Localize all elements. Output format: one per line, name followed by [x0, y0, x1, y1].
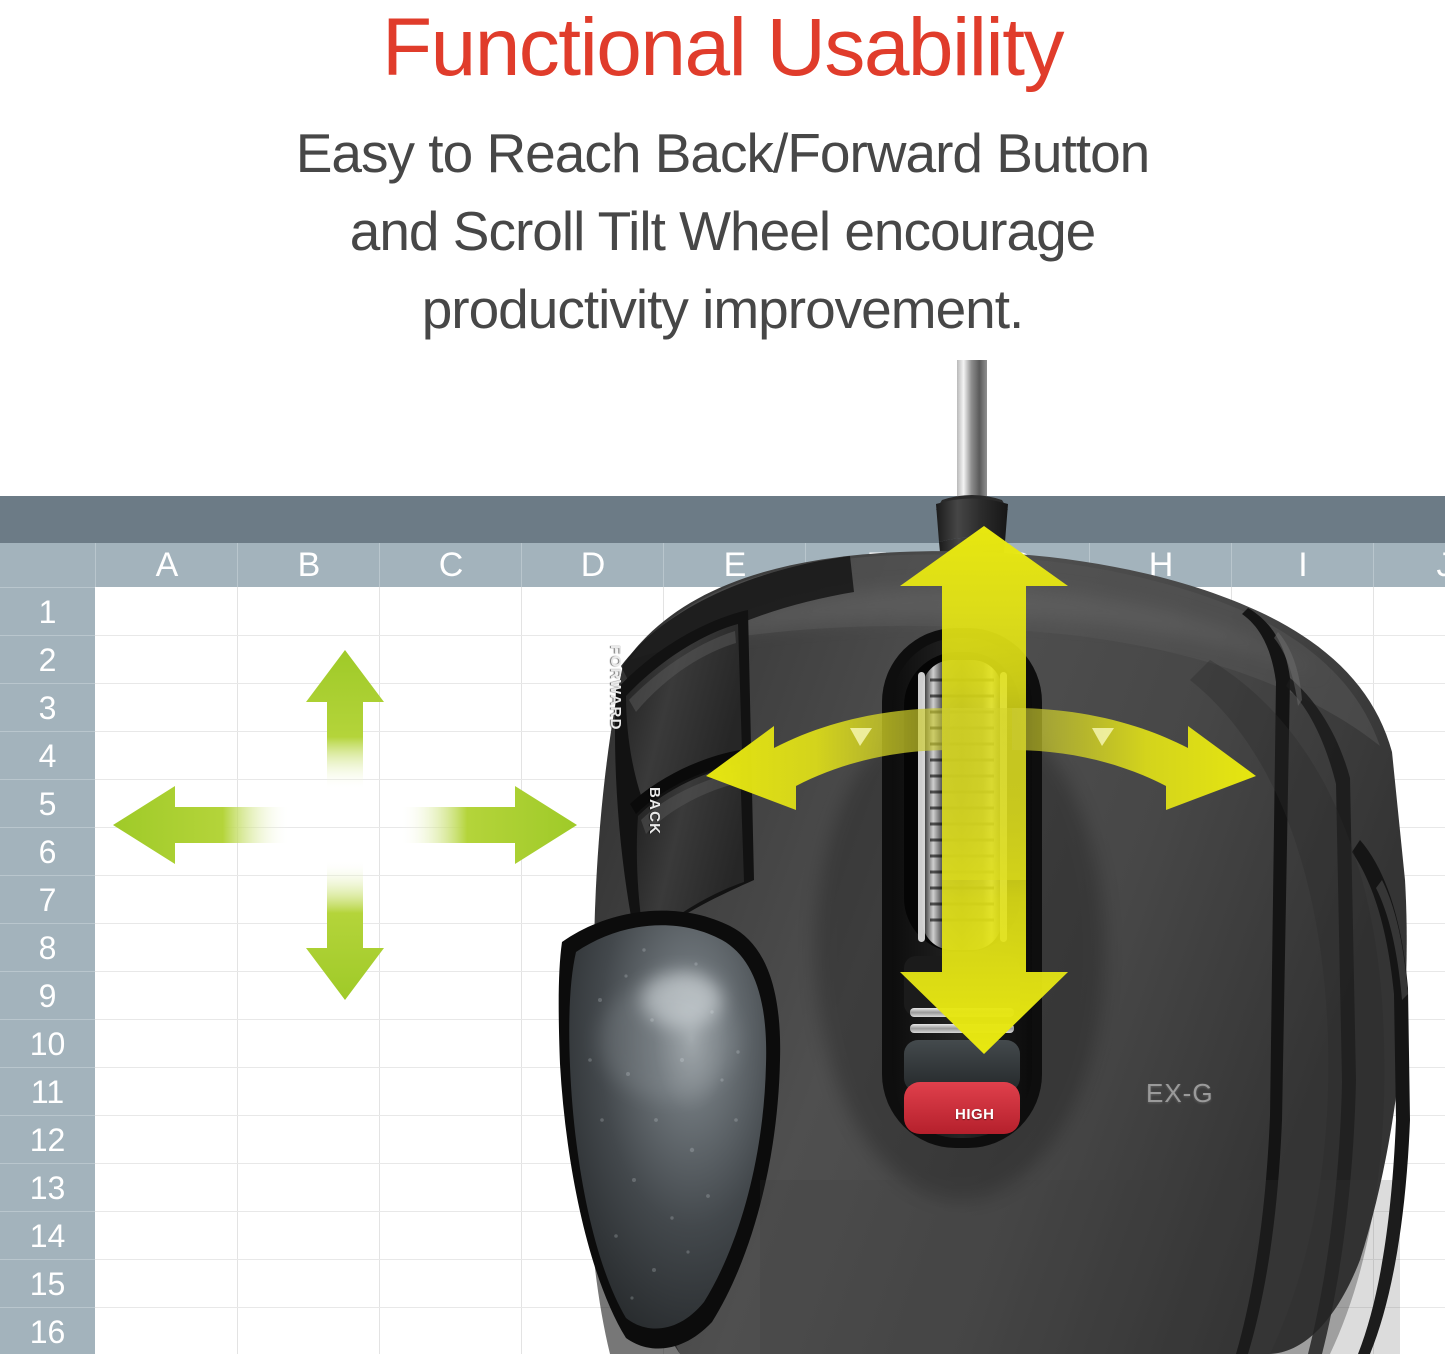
forward-button-label: FORWARD — [607, 645, 624, 731]
column-header-j[interactable]: J — [1373, 543, 1445, 587]
spreadsheet-backdrop: ABCDEFGHIJ 12345678910111213141516 — [0, 496, 1445, 1354]
row-header-12[interactable]: 12 — [0, 1115, 95, 1163]
brand-logo-label: EX-G — [1146, 1078, 1214, 1109]
column-header-d[interactable]: D — [521, 543, 664, 587]
grid-horizontal-line — [95, 731, 1445, 732]
grid-horizontal-line — [95, 971, 1445, 972]
column-header-g[interactable]: G — [947, 543, 1090, 587]
grid-horizontal-line — [95, 1163, 1445, 1164]
row-header-7[interactable]: 7 — [0, 875, 95, 923]
column-header-c[interactable]: C — [379, 543, 522, 587]
grid-horizontal-line — [95, 1211, 1445, 1212]
back-button-label: BACK — [646, 787, 663, 835]
page-title: Functional Usability — [0, 0, 1445, 94]
column-header-row: ABCDEFGHIJ — [0, 543, 1445, 587]
grid-horizontal-line — [95, 1019, 1445, 1020]
row-header-8[interactable]: 8 — [0, 923, 95, 971]
page-subtitle: Easy to Reach Back/Forward Button and Sc… — [0, 94, 1445, 348]
row-header-3[interactable]: 3 — [0, 683, 95, 731]
column-header-e[interactable]: E — [663, 543, 806, 587]
row-header-13[interactable]: 13 — [0, 1163, 95, 1211]
product-feature-image: Functional Usability Easy to Reach Back/… — [0, 0, 1445, 1354]
row-header-14[interactable]: 14 — [0, 1211, 95, 1259]
row-header-16[interactable]: 16 — [0, 1307, 95, 1354]
row-header-5[interactable]: 5 — [0, 779, 95, 827]
row-header-10[interactable]: 10 — [0, 1019, 95, 1067]
grid-horizontal-line — [95, 635, 1445, 636]
row-header-15[interactable]: 15 — [0, 1259, 95, 1307]
column-header-f[interactable]: F — [805, 543, 948, 587]
grid-horizontal-line — [95, 683, 1445, 684]
column-header-h[interactable]: H — [1089, 543, 1232, 587]
column-header-b[interactable]: B — [237, 543, 380, 587]
grid-horizontal-line — [95, 779, 1445, 780]
row-header-6[interactable]: 6 — [0, 827, 95, 875]
row-header-9[interactable]: 9 — [0, 971, 95, 1019]
grid-horizontal-line — [95, 923, 1445, 924]
grid-horizontal-line — [95, 827, 1445, 828]
dpi-high-label: HIGH — [955, 1106, 995, 1123]
spreadsheet-toolbar-strip — [0, 496, 1445, 543]
column-header-i[interactable]: I — [1231, 543, 1374, 587]
row-header-1[interactable]: 1 — [0, 587, 95, 635]
column-header-a[interactable]: A — [95, 543, 238, 587]
row-header-2[interactable]: 2 — [0, 635, 95, 683]
grid-horizontal-line — [95, 875, 1445, 876]
select-all-corner-cell[interactable] — [0, 543, 95, 587]
grid-horizontal-line — [95, 1067, 1445, 1068]
row-header-4[interactable]: 4 — [0, 731, 95, 779]
grid-horizontal-line — [95, 1259, 1445, 1260]
grid-horizontal-line — [95, 1307, 1445, 1308]
grid-horizontal-line — [95, 1115, 1445, 1116]
headline-block: Functional Usability Easy to Reach Back/… — [0, 0, 1445, 496]
row-header-11[interactable]: 11 — [0, 1067, 95, 1115]
row-header-column: 12345678910111213141516 — [0, 587, 95, 1354]
grid-cells-area[interactable] — [95, 587, 1445, 1354]
